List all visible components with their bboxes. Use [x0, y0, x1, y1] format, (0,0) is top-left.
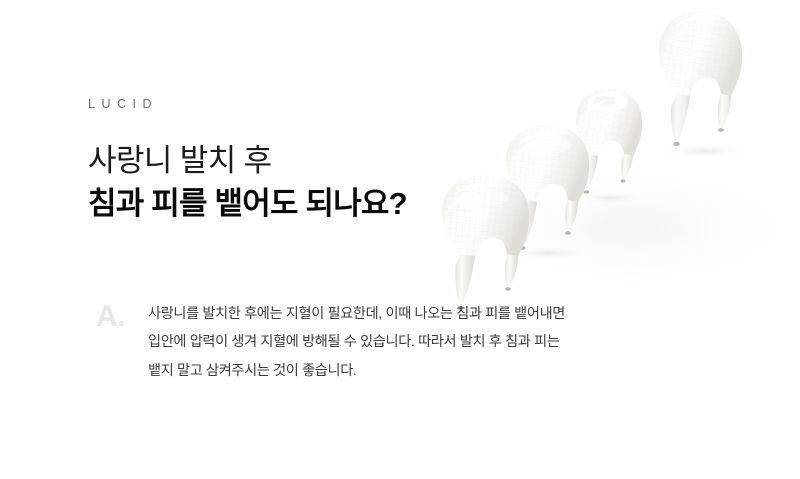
answer-text: 사랑니를 발치한 후에는 지혈이 필요한데, 이때 나오는 침과 피를 뱉어내면… — [148, 300, 738, 385]
answer-line-1: 사랑니를 발치한 후에는 지혈이 필요한데, 이때 나오는 침과 피를 뱉어내면 — [148, 300, 738, 328]
tooth-1-front — [430, 168, 540, 318]
answer-line-3: 뱉지 말고 삼켜주시는 것이 좋습니다. — [148, 357, 738, 385]
promo-card: LUCID 사랑니 발치 후 침과 피를 뱉어도 되나요? A. 사랑니를 발치… — [0, 0, 800, 479]
ceramic-tooth-models-illustration — [470, 0, 800, 290]
floor-shadow-glow — [490, 150, 800, 290]
headline-line-1: 사랑니 발치 후 — [88, 140, 407, 183]
headline-line-2: 침과 피를 뱉어도 되나요? — [88, 183, 407, 226]
page-title: 사랑니 발치 후 침과 피를 뱉어도 되나요? — [88, 140, 407, 226]
brand-logo-lucid: LUCID — [88, 98, 158, 111]
tooth-2 — [496, 120, 600, 260]
answer-line-2: 입안에 압력이 생겨 지혈에 방해될 수 있습니다. 따라서 발치 후 침과 피… — [148, 328, 738, 356]
tooth-4-back — [645, 8, 753, 158]
answer-block: A. 사랑니를 발치한 후에는 지혈이 필요한데, 이때 나오는 침과 피를 뱉… — [88, 300, 738, 385]
answer-marker: A. — [96, 302, 125, 332]
tooth-3 — [566, 86, 652, 204]
